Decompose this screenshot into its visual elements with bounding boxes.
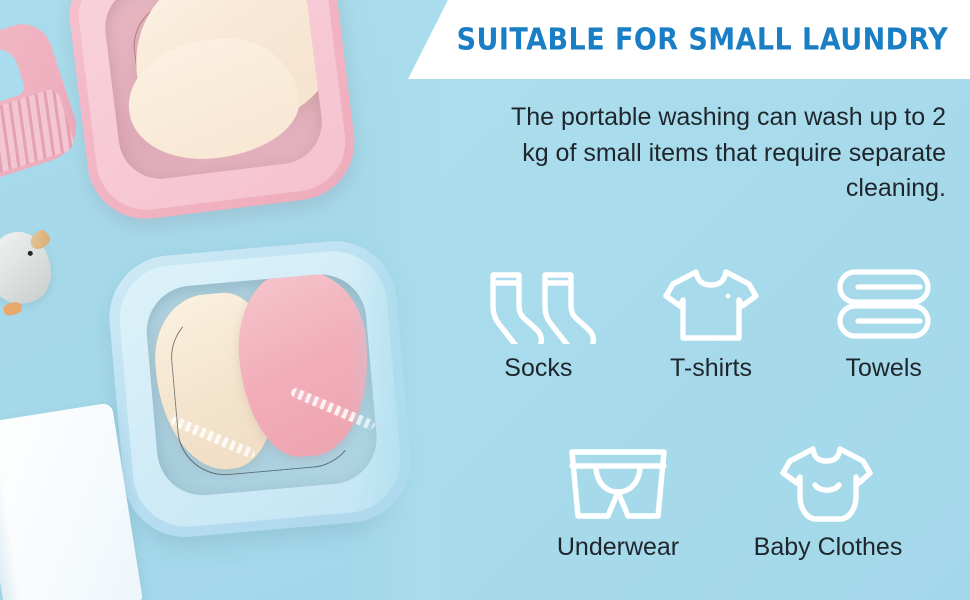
socks-icon — [479, 262, 597, 348]
feature-label-socks: Socks — [504, 354, 572, 383]
feature-row-2: Underwear Baby Clothes — [452, 441, 970, 562]
description-text: The portable washing can wash up to 2 kg… — [506, 100, 946, 207]
product-photo — [0, 0, 440, 600]
feature-label-underwear: Underwear — [557, 533, 679, 562]
pink-basin-ridges — [0, 87, 76, 178]
pink-basin-interior — [100, 0, 326, 183]
photo-edge-fade — [350, 0, 440, 600]
bird-beak — [27, 227, 53, 252]
page-title: SUITABLE FOR SMALL LAUNDRY — [456, 22, 948, 57]
feature-item-socks: Socks — [452, 262, 625, 383]
bird-eye — [27, 250, 33, 256]
tshirt-icon — [663, 262, 759, 348]
blue-basin-seam — [167, 298, 361, 479]
feature-item-underwear: Underwear — [513, 441, 723, 562]
bird-figurine — [0, 226, 58, 311]
feature-item-towels: Towels — [797, 262, 970, 383]
bird-foot — [2, 301, 22, 317]
folded-towels-icon — [836, 262, 932, 348]
feature-item-tshirts: T-shirts — [625, 262, 798, 383]
onesie-icon — [780, 441, 876, 527]
feature-icon-grid: Socks T-shirts — [452, 262, 970, 562]
feature-label-tshirts: T-shirts — [670, 354, 752, 383]
feature-label-baby-clothes: Baby Clothes — [754, 533, 903, 562]
pink-collapsible-basin — [63, 0, 361, 225]
title-banner: SUITABLE FOR SMALL LAUNDRY — [396, 0, 970, 79]
feature-item-baby-clothes: Baby Clothes — [723, 441, 933, 562]
boxer-briefs-icon — [566, 441, 670, 527]
feature-label-towels: Towels — [845, 354, 921, 383]
blue-basin-interior — [143, 271, 380, 499]
product-feature-banner: SUITABLE FOR SMALL LAUNDRY The portable … — [0, 0, 970, 600]
feature-row-1: Socks T-shirts — [452, 262, 970, 383]
